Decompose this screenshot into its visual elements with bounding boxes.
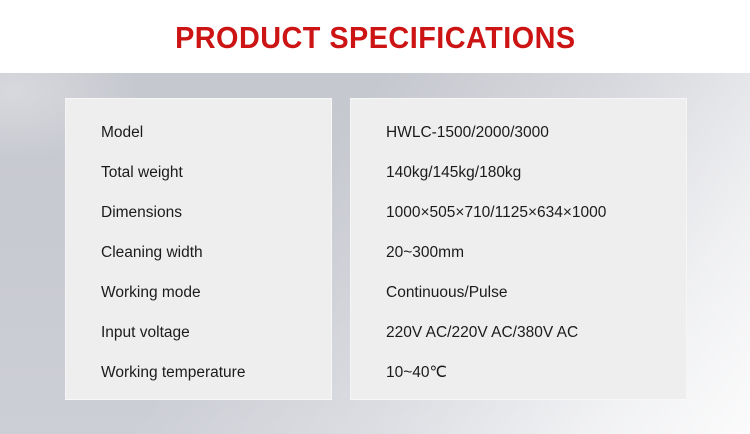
spec-label-row: Cleaning width: [66, 233, 331, 273]
spec-label: Model: [101, 124, 143, 143]
spec-value-row: 1000×505×710/1125×634×1000: [351, 193, 686, 233]
spec-values-panel: HWLC-1500/2000/3000140kg/145kg/180kg1000…: [350, 98, 687, 400]
spec-value-row: Continuous/Pulse: [351, 273, 686, 313]
spec-label-row: Total weight: [66, 153, 331, 193]
spec-label-row: Model: [66, 113, 331, 153]
spec-value-row: 20~300mm: [351, 233, 686, 273]
spec-label: Dimensions: [101, 204, 182, 223]
spec-values-list: HWLC-1500/2000/3000140kg/145kg/180kg1000…: [351, 99, 686, 399]
spec-value: HWLC-1500/2000/3000: [386, 124, 549, 143]
product-specifications-page: PRODUCT SPECIFICATIONS ModelTotal weight…: [0, 0, 750, 434]
specifications-area: ModelTotal weightDimensionsCleaning widt…: [0, 73, 750, 434]
spec-value: 20~300mm: [386, 244, 464, 263]
spec-labels-list: ModelTotal weightDimensionsCleaning widt…: [66, 99, 331, 399]
spec-value-row: 10~40℃: [351, 353, 686, 393]
spec-value: Continuous/Pulse: [386, 284, 508, 303]
spec-label-row: Dimensions: [66, 193, 331, 233]
spec-label-row: Input voltage: [66, 313, 331, 353]
spec-value-row: 140kg/145kg/180kg: [351, 153, 686, 193]
spec-label-row: Working mode: [66, 273, 331, 313]
spec-value: 220V AC/220V AC/380V AC: [386, 324, 578, 343]
spec-value: 140kg/145kg/180kg: [386, 164, 521, 183]
page-title: PRODUCT SPECIFICATIONS: [175, 22, 576, 53]
spec-label: Input voltage: [101, 324, 190, 343]
spec-label: Cleaning width: [101, 244, 203, 263]
spec-value-row: 220V AC/220V AC/380V AC: [351, 313, 686, 353]
header-band: PRODUCT SPECIFICATIONS: [0, 0, 750, 73]
spec-value: 10~40℃: [386, 364, 447, 383]
spec-value: 1000×505×710/1125×634×1000: [386, 204, 606, 223]
spec-label: Working temperature: [101, 364, 245, 383]
spec-label: Total weight: [101, 164, 183, 183]
spec-value-row: HWLC-1500/2000/3000: [351, 113, 686, 153]
spec-label: Working mode: [101, 284, 201, 303]
spec-label-row: Working temperature: [66, 353, 331, 393]
spec-labels-panel: ModelTotal weightDimensionsCleaning widt…: [65, 98, 332, 400]
